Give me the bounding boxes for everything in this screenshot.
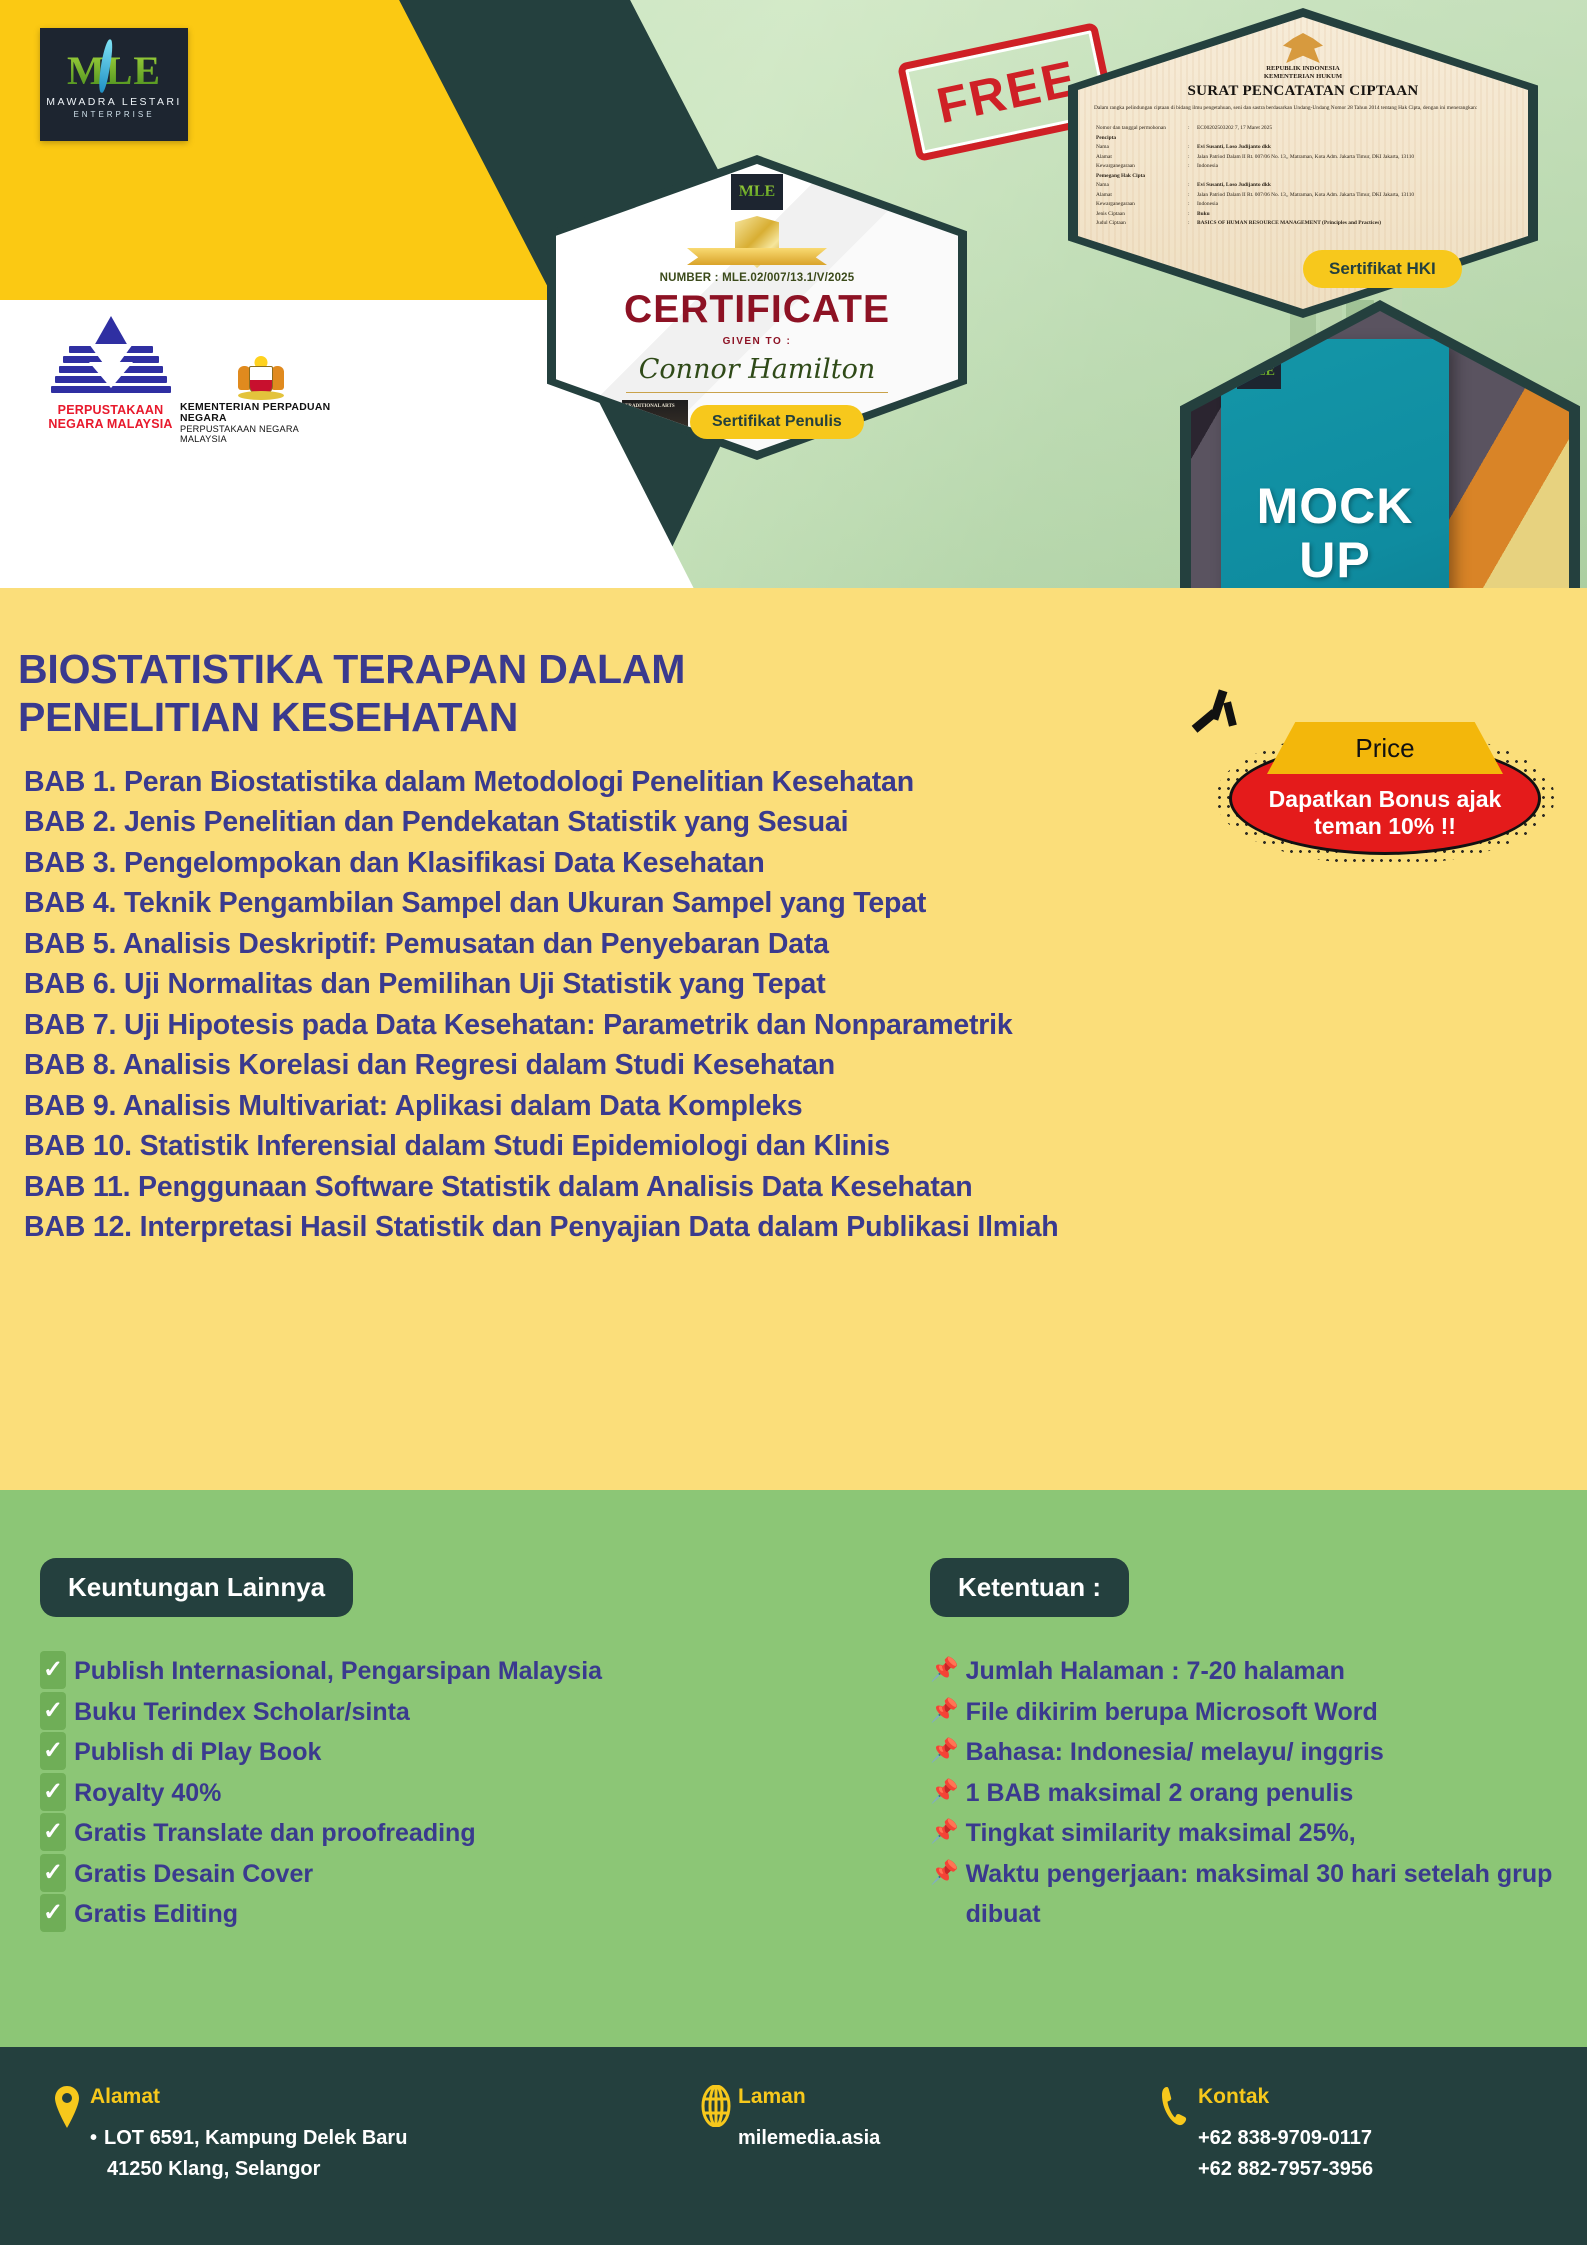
ribbon-icon [687, 248, 827, 265]
check-icon: ✓ [40, 1692, 66, 1730]
footer-bar: Alamat •LOT 6591, Kampung Delek Baru 412… [0, 2047, 1587, 2245]
chapter-item: BAB 9. Analisis Multivariat: Aplikasi da… [24, 1086, 1564, 1126]
benefit-item: ✓ Buku Terindex Scholar/sinta [40, 1692, 740, 1733]
kpn-logo: KEMENTERIAN PERPADUAN NEGARA PERPUSTAKAA… [180, 352, 342, 446]
jata-negara-icon [235, 356, 287, 400]
check-icon: ✓ [40, 1813, 66, 1851]
contact-phone-1[interactable]: +62 838-9709-0117 [1198, 2123, 1373, 2154]
address-value: •LOT 6591, Kampung Delek Baru 41250 Klan… [90, 2123, 407, 2185]
pin-icon: 📌 [930, 1692, 959, 1729]
pin-icon: 📌 [930, 1651, 959, 1688]
pin-icon: 📌 [930, 1732, 959, 1769]
benefit-label: Buku Terindex Scholar/sinta [74, 1692, 410, 1733]
logo-company-name: MAWADRA LESTARI [46, 96, 181, 108]
term-label: Waktu pengerjaan: maksimal 30 hari setel… [966, 1854, 1570, 1935]
pnm-logo: PERPUSTAKAAN NEGARA MALAYSIA [38, 318, 183, 438]
check-icon: ✓ [40, 1651, 66, 1689]
sertifikat-penulis-badge[interactable]: Sertifikat Penulis [690, 405, 864, 439]
footer-contact-block: Kontak +62 838-9709-0117 +62 882-7957-39… [1160, 2085, 1373, 2185]
price-offer-text: Dapatkan Bonus ajak teman 10% !! [1231, 786, 1539, 840]
brand-logo: MLE MAWADRA LESTARI ENTERPRISE [40, 28, 188, 141]
term-label: Tingkat similarity maksimal 25%, [966, 1813, 1356, 1854]
contact-phone-2[interactable]: +62 882-7957-3956 [1198, 2154, 1373, 2185]
benefits-column: Keuntungan Lainnya ✓ Publish Internasion… [40, 1558, 740, 1935]
kpn-line-2: PERPUSTAKAAN NEGARA MALAYSIA [180, 424, 342, 444]
pnm-mark-icon [51, 318, 171, 400]
term-item: 📌 1 BAB maksimal 2 orang penulis [930, 1773, 1570, 1814]
free-stamp-label: FREE [932, 49, 1082, 135]
check-icon: ✓ [40, 1773, 66, 1811]
footer-website-block: Laman milemedia.asia [700, 2085, 880, 2154]
mockup-line-1: MOCK [1221, 477, 1449, 535]
location-pin-icon [52, 2085, 90, 2129]
hki-title: SURAT PENCATATAN CIPTAAN [1078, 83, 1528, 100]
hki-detail-rows: Nomor dan tanggal permohonan:EC002025032… [1096, 125, 1516, 230]
globe-icon [700, 2085, 738, 2127]
term-item: 📌 Bahasa: Indonesia/ melayu/ inggris [930, 1732, 1570, 1773]
chapter-item: BAB 10. Statistik Inferensial dalam Stud… [24, 1126, 1564, 1166]
benefits-list: ✓ Publish Internasional, Pengarsipan Mal… [40, 1651, 740, 1935]
poster-root: MLE MAWADRA LESTARI ENTERPRISE FREE REPU… [0, 0, 1587, 2245]
term-item: 📌 Jumlah Halaman : 7-20 halaman [930, 1651, 1570, 1692]
term-label: File dikirim berupa Microsoft Word [966, 1692, 1378, 1733]
term-label: Jumlah Halaman : 7-20 halaman [966, 1651, 1345, 1692]
chapter-item: BAB 6. Uji Normalitas dan Pemilihan Uji … [24, 964, 1564, 1004]
benefit-label: Gratis Editing [74, 1894, 238, 1935]
contact-label: Kontak [1198, 2085, 1373, 2109]
pnm-label: PERPUSTAKAAN NEGARA MALAYSIA [38, 403, 183, 432]
book-title: BIOSTATISTIKA TERAPAN DALAM PENELITIAN K… [18, 645, 978, 742]
pin-icon: 📌 [930, 1813, 959, 1850]
price-tag: Price [1267, 722, 1503, 774]
benefit-item: ✓ Gratis Editing [40, 1894, 740, 1935]
mockup-line-2: UP [1221, 531, 1449, 589]
certificate-logo: MLE [731, 174, 783, 210]
benefit-item: ✓ Gratis Translate dan proofreading [40, 1813, 740, 1854]
certificate-heading: CERTIFICATE [556, 288, 958, 332]
kpn-line-1: KEMENTERIAN PERPADUAN NEGARA [180, 402, 342, 424]
website-label: Laman [738, 2085, 880, 2109]
address-label: Alamat [90, 2085, 407, 2109]
hki-paragraph: Dalam rangka pelindungan ciptaan di bida… [1094, 105, 1514, 112]
certificate-number: NUMBER : MLE.02/007/13.1/V/2025 [556, 272, 958, 284]
term-item: 📌 Waktu pengerjaan: maksimal 30 hari set… [930, 1854, 1570, 1935]
benefit-item: ✓ Gratis Desain Cover [40, 1854, 740, 1895]
logo-initials: MLE [67, 48, 161, 93]
benefit-item: ✓ Royalty 40% [40, 1773, 740, 1814]
chapter-item: BAB 11. Penggunaan Software Statistik da… [24, 1167, 1564, 1207]
pin-icon: 📌 [930, 1854, 959, 1891]
terms-column: Ketentuan : 📌 Jumlah Halaman : 7-20 hala… [930, 1558, 1570, 1935]
benefit-label: Gratis Translate dan proofreading [74, 1813, 475, 1854]
phone-icon [1160, 2085, 1198, 2127]
header-band: MLE MAWADRA LESTARI ENTERPRISE FREE REPU… [0, 0, 1587, 640]
chapter-item: BAB 12. Interpretasi Hasil Statistik dan… [24, 1207, 1564, 1247]
term-item: 📌 Tingkat similarity maksimal 25%, [930, 1813, 1570, 1854]
check-icon: ✓ [40, 1732, 66, 1770]
pin-icon: 📌 [930, 1773, 959, 1810]
footer-address-block: Alamat •LOT 6591, Kampung Delek Baru 412… [52, 2085, 407, 2185]
benefit-item: ✓ Publish di Play Book [40, 1732, 740, 1773]
terms-list: 📌 Jumlah Halaman : 7-20 halaman 📌 File d… [930, 1651, 1570, 1935]
chapter-item: BAB 5. Analisis Deskriptif: Pemusatan da… [24, 924, 1564, 964]
logo-company-sub: ENTERPRISE [73, 110, 154, 119]
benefit-label: Publish di Play Book [74, 1732, 321, 1773]
check-icon: ✓ [40, 1894, 66, 1932]
chapter-item: BAB 4. Teknik Pengambilan Sampel dan Uku… [24, 883, 1564, 923]
term-item: 📌 File dikirim berupa Microsoft Word [930, 1692, 1570, 1733]
website-value[interactable]: milemedia.asia [738, 2123, 880, 2154]
term-label: Bahasa: Indonesia/ melayu/ inggris [966, 1732, 1384, 1773]
sertifikat-hki-badge[interactable]: Sertifikat HKI [1303, 250, 1462, 288]
chapter-item: BAB 8. Analisis Korelasi dan Regresi dal… [24, 1045, 1564, 1085]
benefits-heading: Keuntungan Lainnya [40, 1558, 353, 1617]
benefit-item: ✓ Publish Internasional, Pengarsipan Mal… [40, 1651, 740, 1692]
price-badge: Price Dapatkan Bonus ajak teman 10% !! [1215, 730, 1555, 865]
certificate-given-to-label: GIVEN TO : [556, 336, 958, 347]
terms-heading: Ketentuan : [930, 1558, 1129, 1617]
certificate-recipient-name: Connor Hamilton [556, 354, 958, 385]
term-label: 1 BAB maksimal 2 orang penulis [966, 1773, 1354, 1814]
price-tag-label: Price [1355, 733, 1414, 764]
check-icon: ✓ [40, 1854, 66, 1892]
benefit-label: Publish Internasional, Pengarsipan Malay… [74, 1651, 602, 1692]
garuda-crest-icon [1283, 33, 1323, 63]
benefit-label: Royalty 40% [74, 1773, 221, 1814]
chapter-item: BAB 7. Uji Hipotesis pada Data Kesehatan… [24, 1005, 1564, 1045]
benefit-label: Gratis Desain Cover [74, 1854, 313, 1895]
